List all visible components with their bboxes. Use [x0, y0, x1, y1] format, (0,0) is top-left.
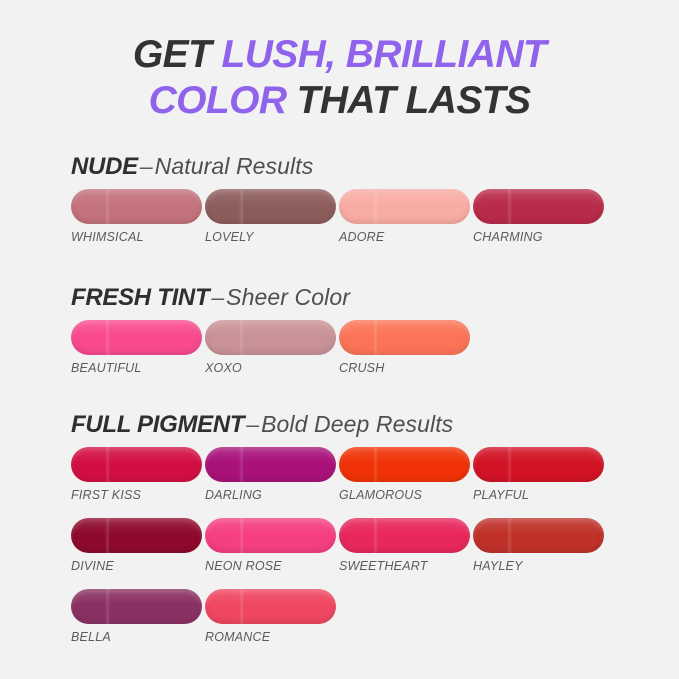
section-full-pigment-dash: –	[244, 411, 261, 437]
swatch-label: XOXO	[205, 361, 339, 375]
swatch-label: NEON ROSE	[205, 559, 339, 573]
swatch-cell[interactable]: XOXO	[205, 320, 339, 375]
swatch-label: HAYLEY	[473, 559, 607, 573]
section-full-pigment-subtitle: Bold Deep Results	[261, 411, 453, 437]
title-line-2-accent: COLOR	[149, 79, 287, 122]
color-swatch[interactable]	[71, 589, 202, 624]
section-fresh-tint-swatch-grid: BEAUTIFULXOXOCRUSH	[71, 320, 611, 391]
swatch-cell[interactable]: DARLING	[205, 447, 339, 502]
color-swatch[interactable]	[71, 189, 202, 224]
color-swatch[interactable]	[205, 447, 336, 482]
swatch-label: DIVINE	[71, 559, 205, 573]
shade-chart-page: GET LUSH, BRILLIANT COLOR THAT LASTS NUD…	[0, 0, 679, 679]
swatch-cell[interactable]: DIVINE	[71, 518, 205, 573]
color-swatch[interactable]	[71, 447, 202, 482]
color-swatch[interactable]	[473, 447, 604, 482]
swatch-label: BELLA	[71, 630, 205, 644]
swatch-label: DARLING	[205, 488, 339, 502]
swatch-cell[interactable]: PLAYFUL	[473, 447, 607, 502]
swatch-cell[interactable]: CHARMING	[473, 189, 607, 244]
color-swatch[interactable]	[205, 189, 336, 224]
swatch-label: CHARMING	[473, 230, 607, 244]
section-fresh-tint-subtitle: Sheer Color	[226, 284, 350, 310]
swatch-cell[interactable]: BELLA	[71, 589, 205, 644]
color-swatch[interactable]	[205, 320, 336, 355]
section-nude-swatch-grid: WHIMSICALLOVELYADORECHARMING	[71, 189, 611, 260]
swatch-cell[interactable]: CRUSH	[339, 320, 473, 375]
color-swatch[interactable]	[205, 589, 336, 624]
swatch-cell[interactable]: LOVELY	[205, 189, 339, 244]
swatch-label: LOVELY	[205, 230, 339, 244]
color-swatch[interactable]	[205, 518, 336, 553]
swatch-cell[interactable]: HAYLEY	[473, 518, 607, 573]
color-swatch[interactable]	[339, 518, 470, 553]
section-full-pigment: FULL PIGMENT–Bold Deep Results FIRST KIS…	[71, 410, 611, 660]
color-swatch[interactable]	[473, 518, 604, 553]
title-line-2-plain: THAT LASTS	[286, 79, 530, 122]
swatch-label: ADORE	[339, 230, 473, 244]
swatch-label: CRUSH	[339, 361, 473, 375]
section-fresh-tint: FRESH TINT–Sheer Color BEAUTIFULXOXOCRUS…	[71, 283, 611, 391]
section-nude-subtitle: Natural Results	[155, 153, 314, 179]
color-swatch[interactable]	[339, 447, 470, 482]
color-swatch[interactable]	[339, 189, 470, 224]
swatch-cell[interactable]: NEON ROSE	[205, 518, 339, 573]
color-swatch[interactable]	[71, 518, 202, 553]
section-nude-category: NUDE	[71, 153, 138, 180]
swatch-label: PLAYFUL	[473, 488, 607, 502]
section-fresh-tint-heading: FRESH TINT–Sheer Color	[71, 283, 611, 311]
section-nude: NUDE–Natural Results WHIMSICALLOVELYADOR…	[71, 152, 611, 260]
swatch-cell[interactable]: WHIMSICAL	[71, 189, 205, 244]
section-fresh-tint-category: FRESH TINT	[71, 284, 209, 311]
color-swatch[interactable]	[71, 320, 202, 355]
section-fresh-tint-dash: –	[209, 284, 226, 310]
swatch-label: SWEETHEART	[339, 559, 473, 573]
swatch-cell[interactable]: FIRST KISS	[71, 447, 205, 502]
title-line-1: GET LUSH, BRILLIANT	[0, 32, 679, 78]
section-nude-heading: NUDE–Natural Results	[71, 152, 611, 180]
swatch-label: GLAMOROUS	[339, 488, 473, 502]
swatch-label: ROMANCE	[205, 630, 339, 644]
page-title: GET LUSH, BRILLIANT COLOR THAT LASTS	[0, 32, 679, 124]
swatch-cell[interactable]: ADORE	[339, 189, 473, 244]
swatch-label: FIRST KISS	[71, 488, 205, 502]
swatch-cell[interactable]: BEAUTIFUL	[71, 320, 205, 375]
swatch-label: BEAUTIFUL	[71, 361, 205, 375]
title-line-2: COLOR THAT LASTS	[0, 78, 679, 124]
section-full-pigment-heading: FULL PIGMENT–Bold Deep Results	[71, 410, 611, 438]
section-nude-dash: –	[138, 153, 155, 179]
color-swatch[interactable]	[339, 320, 470, 355]
color-swatch[interactable]	[473, 189, 604, 224]
swatch-cell[interactable]: SWEETHEART	[339, 518, 473, 573]
title-line-1-accent: LUSH, BRILLIANT	[221, 33, 546, 76]
title-line-1-plain: GET	[133, 33, 222, 76]
swatch-cell[interactable]: ROMANCE	[205, 589, 339, 644]
section-full-pigment-category: FULL PIGMENT	[71, 411, 244, 438]
swatch-label: WHIMSICAL	[71, 230, 205, 244]
swatch-cell[interactable]: GLAMOROUS	[339, 447, 473, 502]
section-full-pigment-swatch-grid: FIRST KISSDARLINGGLAMOROUSPLAYFULDIVINEN…	[71, 447, 611, 660]
